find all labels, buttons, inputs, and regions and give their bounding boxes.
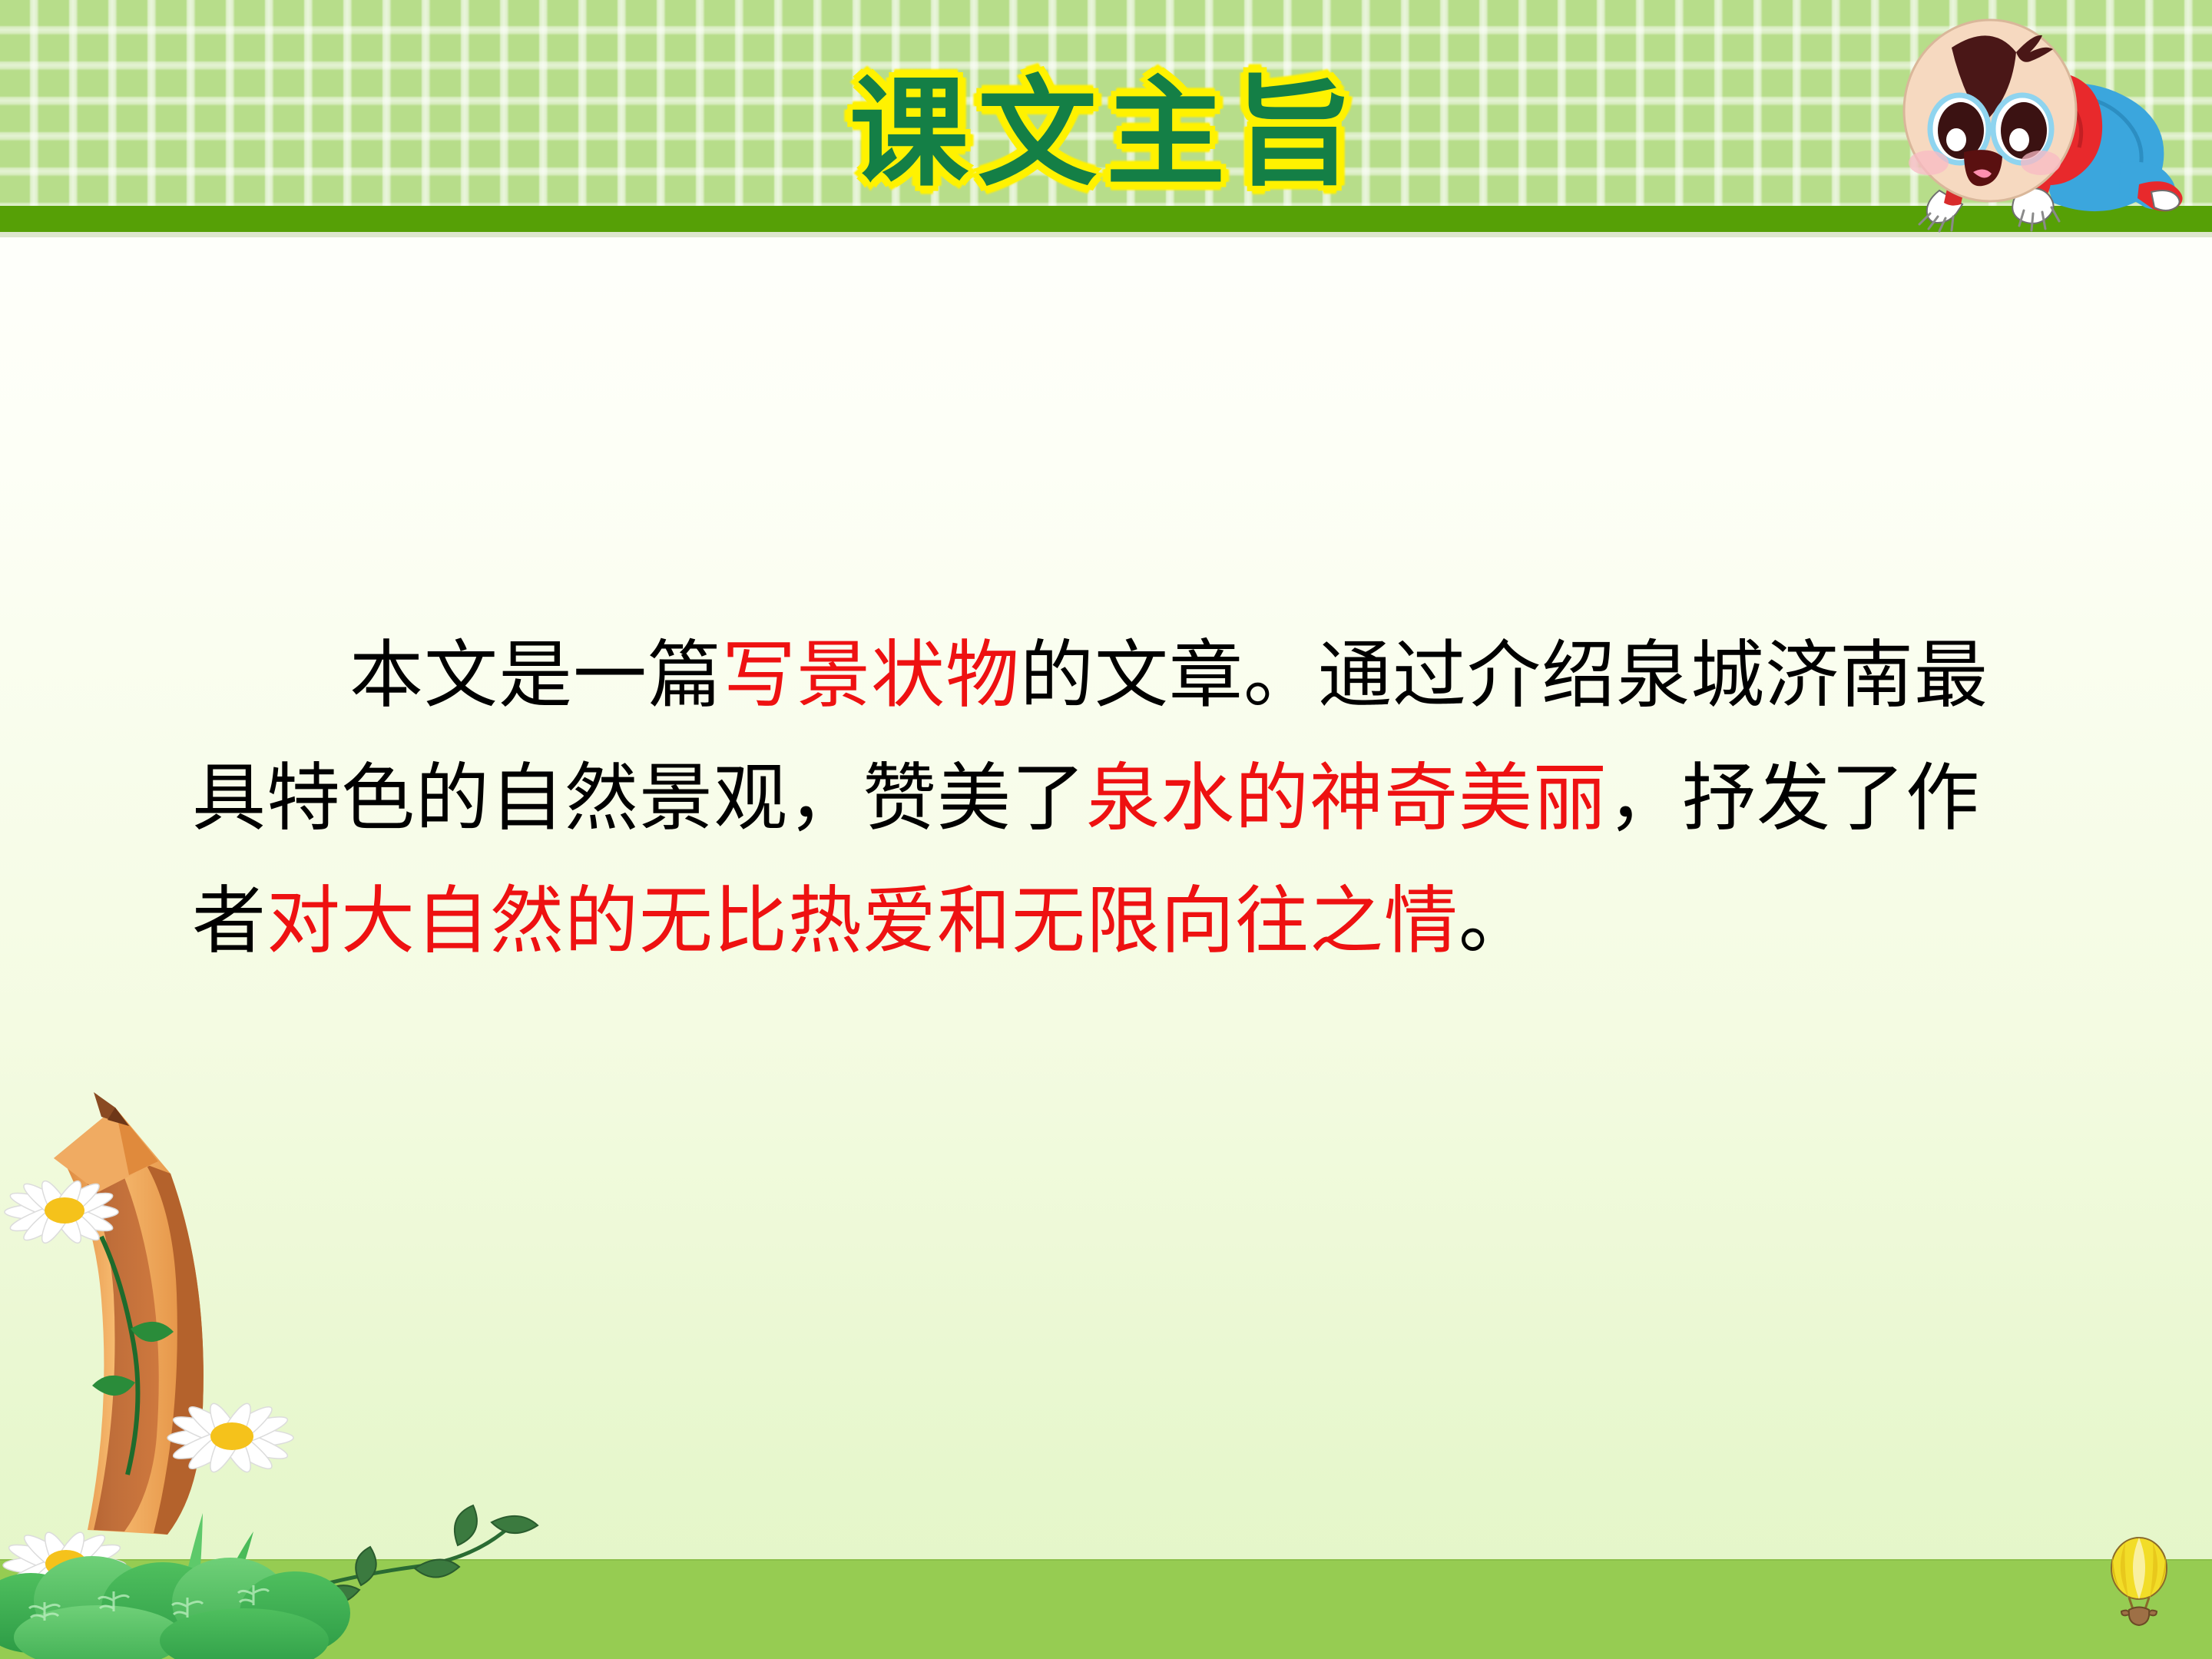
line-3-segment-3: 。 bbox=[1459, 880, 1533, 962]
paragraph-line-1: 本文是一篇写景状物的文章。通过介绍泉城济南最 bbox=[192, 614, 2051, 737]
slide-canvas: 课文主旨 bbox=[0, 0, 2212, 1659]
line-1-segment-3: 的文章。通过介绍泉城济南最 bbox=[1020, 634, 1988, 717]
line-1-segment-1: 本文是一篇 bbox=[349, 634, 722, 717]
pencil-and-flowers-decoration bbox=[0, 1075, 661, 1659]
header-divider-line bbox=[0, 232, 2212, 237]
line-2-highlight: 泉水的神奇美丽 bbox=[1086, 757, 1608, 839]
main-paragraph: 本文是一篇写景状物的文章。通过介绍泉城济南最 具特色的自然景观，赞美了泉水的神奇… bbox=[192, 614, 2051, 983]
header-accent-bar bbox=[0, 206, 2212, 232]
line-3-highlight: 对大自然的无比热爱和无限向往之情 bbox=[267, 880, 1459, 962]
paragraph-line-3: 者对大自然的无比热爱和无限向往之情。 bbox=[192, 860, 2051, 983]
paragraph-line-2: 具特色的自然景观，赞美了泉水的神奇美丽，抒发了作 bbox=[192, 737, 2051, 860]
hot-air-balloon-icon bbox=[2106, 1536, 2172, 1636]
cartoon-baby-icon bbox=[1893, 12, 2193, 237]
line-1-highlight: 写景状物 bbox=[722, 634, 1020, 717]
header-grid-background bbox=[0, 0, 2212, 206]
line-2-segment-3: ，抒发了作 bbox=[1608, 757, 1980, 839]
line-3-segment-1: 者 bbox=[192, 880, 267, 962]
line-2-segment-1: 具特色的自然景观，赞美了 bbox=[192, 757, 1086, 839]
